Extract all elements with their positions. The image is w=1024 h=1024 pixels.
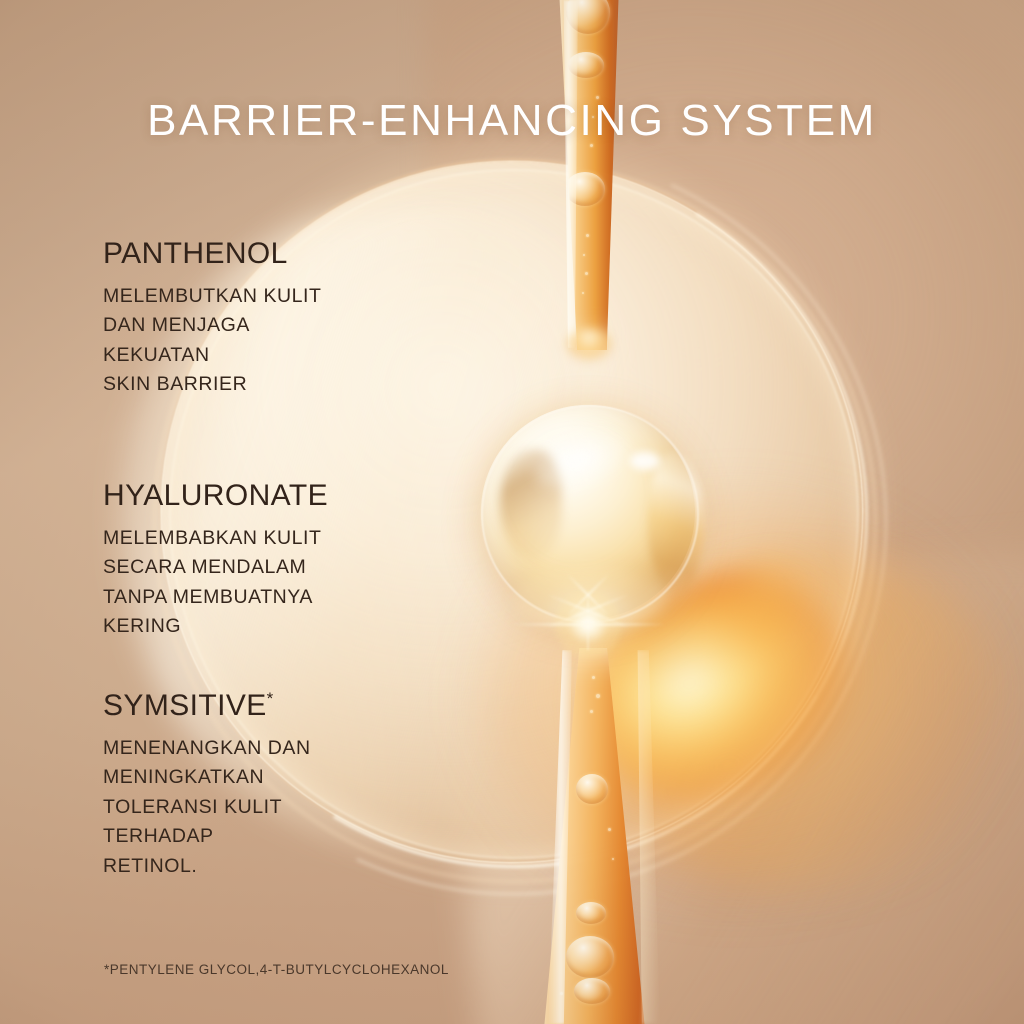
ingredient-heading: PANTHENOL: [103, 238, 443, 270]
ingredient-description: MELEMBUTKAN KULIT DAN MENJAGA KEKUATAN S…: [103, 282, 443, 401]
ingredient-description: MELEMBABKAN KULIT SECARA MENDALAM TANPA …: [103, 524, 443, 643]
ingredient-block-panthenol: PANTHENOL MELEMBUTKAN KULIT DAN MENJAGA …: [103, 238, 443, 400]
product-ingredient-poster: BARRIER-ENHANCING SYSTEM PANTHENOL MELEM…: [0, 0, 1024, 1024]
footnote: *PENTYLENE GLYCOL,4-T-BUTYLCYCLOHEXANOL: [104, 962, 449, 977]
ingredient-block-symsitive: SYMSITIVE* MENENANGKAN DAN MENINGKATKAN …: [103, 690, 443, 882]
ingredient-block-hyaluronate: HYALURONATE MELEMBABKAN KULIT SECARA MEN…: [103, 480, 443, 642]
page-title: BARRIER-ENHANCING SYSTEM: [0, 96, 1024, 146]
ingredient-heading: SYMSITIVE*: [103, 690, 443, 722]
ingredient-heading-text: PANTHENOL: [103, 237, 288, 270]
ingredient-description: MENENANGKAN DAN MENINGKATKAN TOLERANSI K…: [103, 734, 443, 882]
ingredient-heading-text: SYMSITIVE: [103, 689, 267, 722]
ingredient-heading-text: HYALURONATE: [103, 479, 328, 512]
ingredient-heading: HYALURONATE: [103, 480, 443, 512]
ingredient-heading-asterisk: *: [267, 689, 274, 708]
